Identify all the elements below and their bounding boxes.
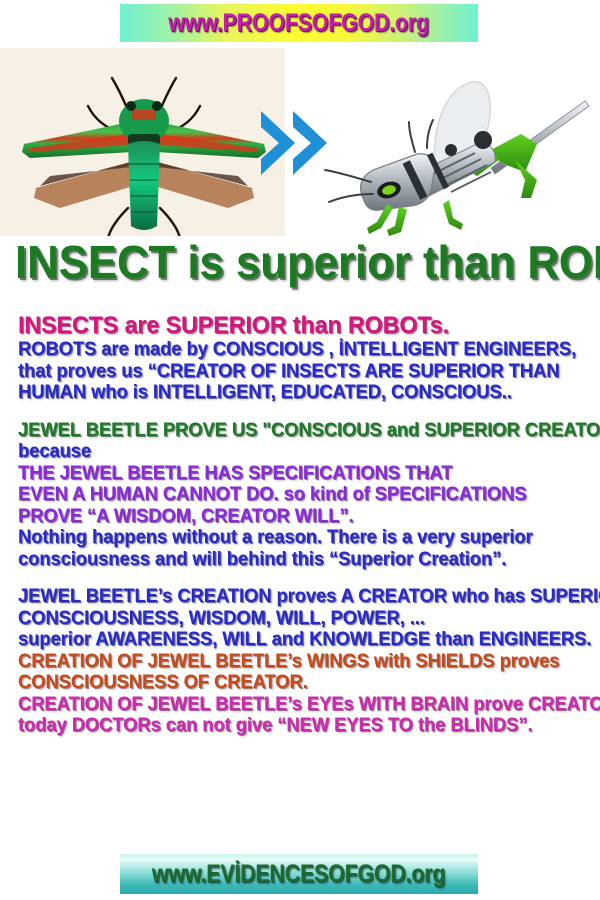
footer-banner: www.EVİDENCESOFGOD.org bbox=[120, 854, 478, 894]
page-title: INSECT is superior than ROBOT insect bbox=[15, 238, 585, 286]
text-block: INSECTS are SUPERIOR than ROBOTs. ROBOTS… bbox=[18, 312, 596, 404]
footer-site-url[interactable]: www.EVİDENCESOFGOD.org bbox=[152, 860, 445, 889]
article-body: INSECTS are SUPERIOR than ROBOTs. ROBOTS… bbox=[18, 312, 596, 737]
text-line: consciousness and will behind this “Supe… bbox=[18, 549, 579, 571]
text-block: JEWEL BEETLE PROVE US "CONSCIOUS and SUP… bbox=[18, 420, 596, 571]
paragraph-spacer bbox=[18, 570, 596, 586]
text-line: today DOCTORs can not give “NEW EYES TO … bbox=[18, 715, 579, 737]
text-line: CREATION OF JEWEL BEETLE’s EYEs WITH BRA… bbox=[18, 694, 579, 716]
text-line: PROVE “A WISDOM, CREATOR WILL”. bbox=[18, 506, 579, 528]
text-line: INSECTS are SUPERIOR than ROBOTs. bbox=[18, 312, 579, 339]
text-line: HUMAN who is INTELLIGENT, EDUCATED, CONS… bbox=[18, 382, 579, 404]
jewel-beetle-icon bbox=[0, 48, 285, 236]
comparison-image-strip bbox=[0, 48, 600, 236]
header-site-url[interactable]: www.PROOFSOFGOD.org bbox=[169, 9, 430, 38]
text-line: THE JEWEL BEETLE HAS SPECIFICATIONS THAT bbox=[18, 463, 579, 485]
text-line: JEWEL BEETLE PROVE US "CONSCIOUS and SUP… bbox=[18, 420, 579, 442]
text-line: superior AWARENESS, WILL and KNOWLEDGE t… bbox=[18, 629, 579, 651]
jewel-beetle-panel bbox=[0, 48, 285, 236]
text-line: CREATION OF JEWEL BEETLE’s WINGS with SH… bbox=[18, 651, 579, 673]
text-line: JEWEL BEETLE’s CREATION proves A CREATOR… bbox=[18, 586, 579, 608]
text-line: Nothing happens without a reason. There … bbox=[18, 527, 579, 549]
double-chevron-right-icon bbox=[255, 103, 335, 183]
header-banner: www.PROOFSOFGOD.org bbox=[120, 4, 478, 42]
text-line: that proves us “CREATOR OF INSECTS ARE S… bbox=[18, 361, 579, 383]
text-line: CONSCIOUSNESS OF CREATOR. bbox=[18, 672, 579, 694]
text-line: ROBOTS are made by CONSCIOUS , İNTELLIGE… bbox=[18, 339, 579, 361]
text-line: because bbox=[18, 441, 579, 463]
text-line: EVEN A HUMAN CANNOT DO. so kind of SPECI… bbox=[18, 484, 579, 506]
superiority-arrow bbox=[255, 103, 335, 183]
text-line: CONSCIOUSNESS, WISDOM, WILL, POWER, ... bbox=[18, 608, 579, 630]
text-block: JEWEL BEETLE’s CREATION proves A CREATOR… bbox=[18, 586, 596, 737]
paragraph-spacer bbox=[18, 404, 596, 420]
